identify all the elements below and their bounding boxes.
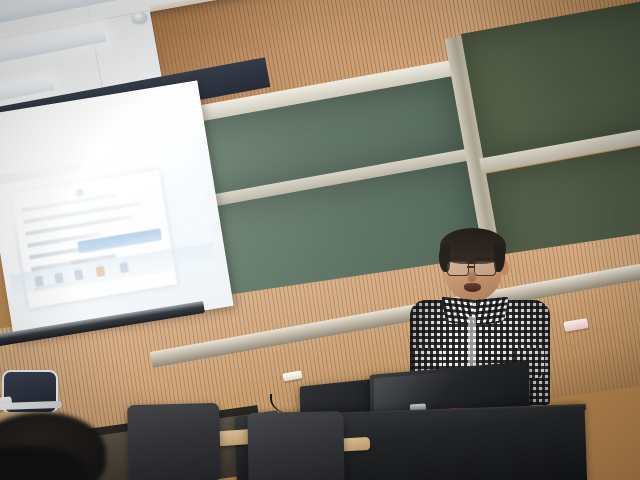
glasses-icon <box>447 261 469 276</box>
app-icon <box>119 262 128 273</box>
mouth <box>464 283 481 292</box>
app-icon <box>74 269 83 280</box>
slide-title-bar <box>0 162 84 185</box>
eyebrow <box>449 257 466 260</box>
glasses-icon <box>474 261 496 276</box>
app-icon <box>34 276 43 287</box>
nose <box>468 271 476 282</box>
app-icon <box>54 273 63 284</box>
glasses-bridge <box>467 266 474 268</box>
app-icon <box>96 266 105 277</box>
lecture-hall-photo: Lecture hall presentation photograph A m… <box>0 0 640 480</box>
eyebrow <box>475 257 492 260</box>
chair-foreground-right <box>247 411 344 480</box>
chair-foreground-center <box>127 403 221 480</box>
projected-slide <box>0 126 217 299</box>
smoke-detector-icon <box>132 12 147 23</box>
